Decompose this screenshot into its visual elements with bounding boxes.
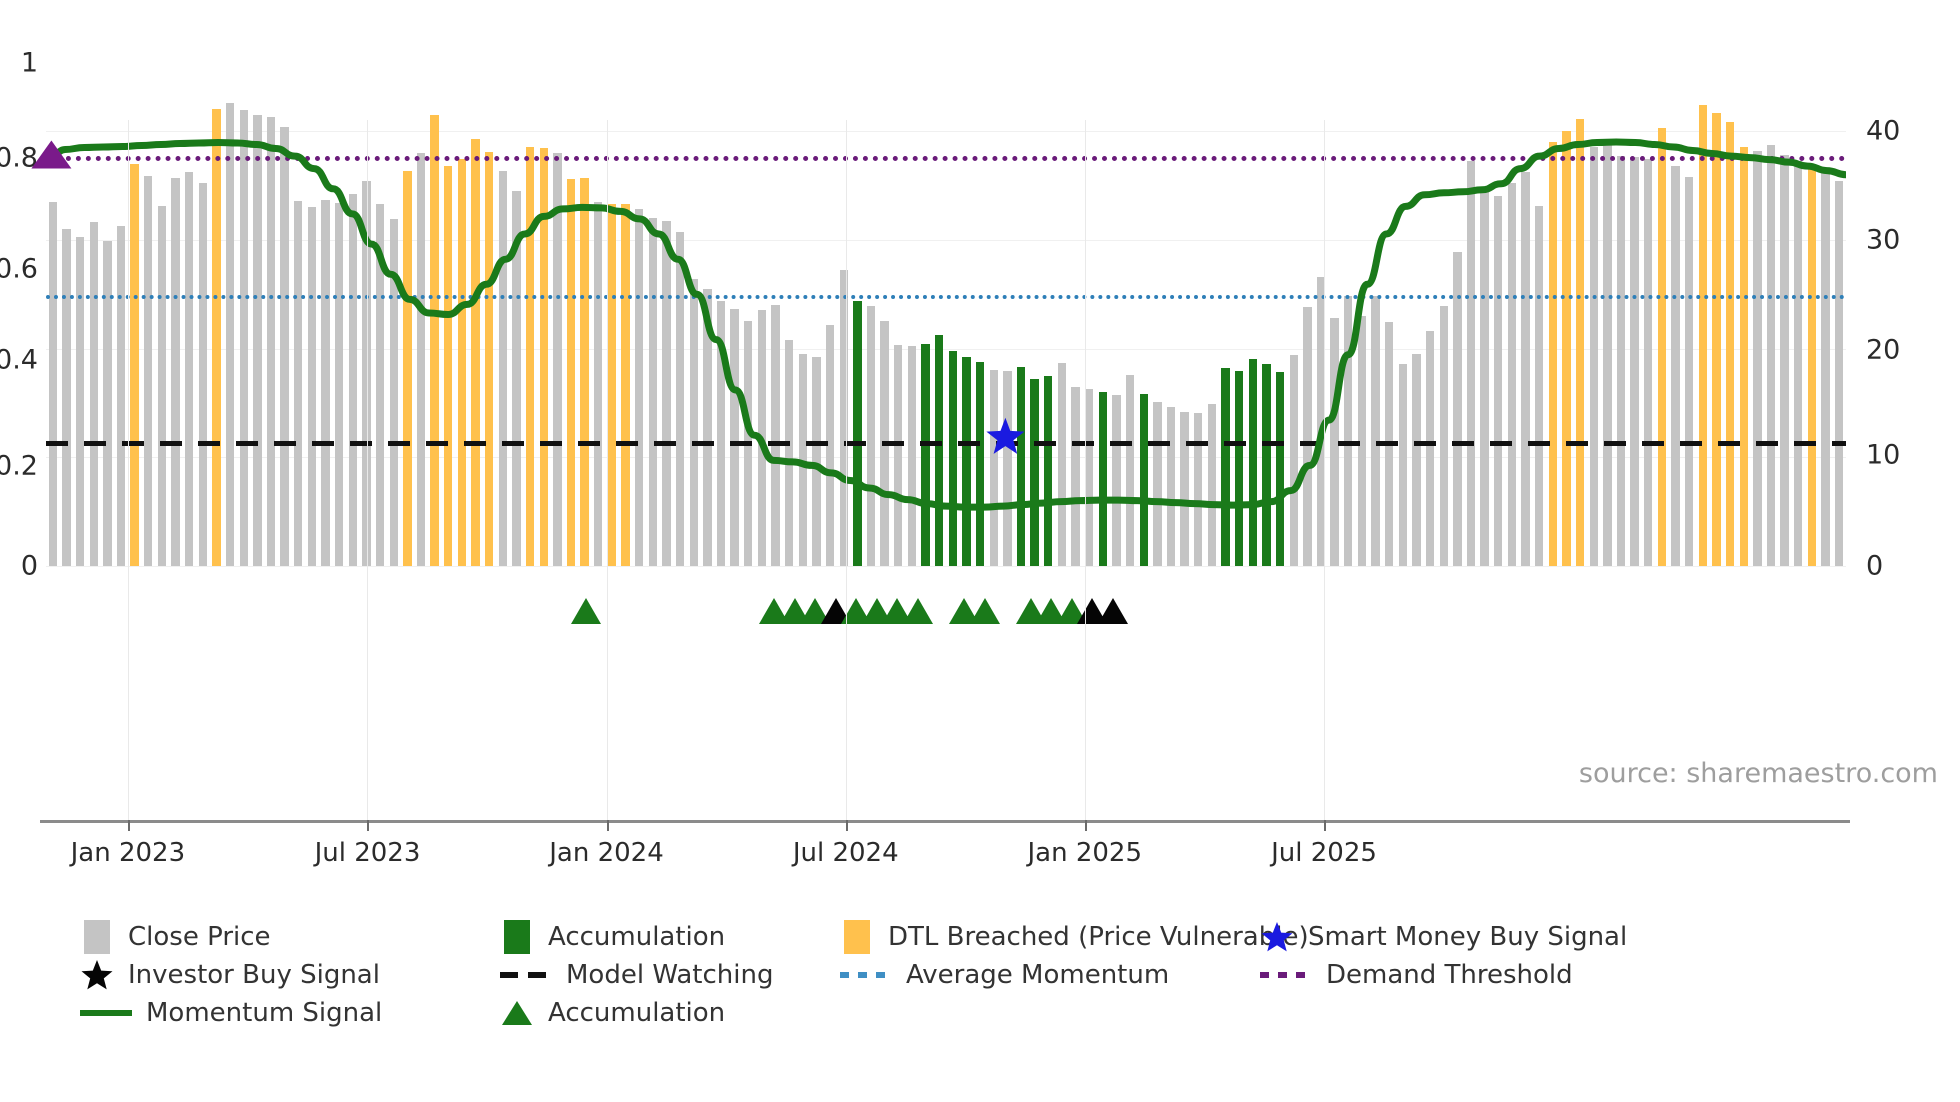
black-star-icon [80, 958, 114, 992]
legend-item-demand-threshold[interactable]: Demand Threshold [1260, 960, 1700, 990]
x-axis-tick [128, 820, 130, 831]
x-axis-tick [1085, 820, 1087, 831]
x-axis-tick-label: Jan 2024 [549, 838, 664, 868]
black-dashed-line-icon [500, 972, 552, 978]
legend-label: Investor Buy Signal [128, 960, 380, 990]
legend-label: Demand Threshold [1326, 960, 1573, 990]
gridline-vertical [1085, 120, 1086, 820]
chart-root: 1 0.8 0.6 0.4 0.2 0 40 30 20 10 0 Jan 20… [0, 0, 1960, 1102]
y-axis-right-tick: 0 [1866, 551, 1883, 582]
gray-square-icon [80, 920, 114, 954]
legend-label: Model Watching [566, 960, 773, 990]
legend-item-investor-buy-signal[interactable]: Investor Buy Signal [80, 958, 500, 992]
legend-label: Smart Money Buy Signal [1308, 922, 1627, 952]
y-axis-right-tick: 10 [1866, 440, 1900, 471]
plot-area [46, 60, 1846, 710]
x-axis-tick-label: Jul 2023 [315, 838, 421, 868]
green-triangle-icon [500, 996, 534, 1030]
y-axis-left-tick: 1 [21, 48, 38, 79]
accumulation-triangle[interactable] [903, 598, 933, 624]
y-axis-left-tick: 0 [21, 551, 38, 582]
x-axis-tick [607, 820, 609, 831]
y-axis-left-tick: 0.4 [0, 345, 38, 376]
point-markers-layer [46, 60, 1846, 710]
x-axis-tick-label: Jul 2024 [793, 838, 899, 868]
x-axis-tick-label: Jan 2025 [1028, 838, 1143, 868]
legend-label: DTL Breached (Price Vulnerable) [888, 922, 1309, 952]
gridline-vertical [1324, 120, 1325, 820]
accumulation-triangle[interactable] [970, 598, 1000, 624]
legend-label: Accumulation [548, 998, 725, 1028]
legend-label: Close Price [128, 922, 271, 952]
legend-item-average-momentum[interactable]: Average Momentum [840, 960, 1260, 990]
legend-item-accumulation-bar[interactable]: Accumulation [500, 920, 840, 954]
x-axis-line [40, 820, 1850, 823]
legend-label: Average Momentum [906, 960, 1169, 990]
legend-label: Momentum Signal [146, 998, 382, 1028]
x-axis-tick [846, 820, 848, 831]
y-axis-right-tick: 20 [1866, 335, 1900, 366]
y-axis-left-tick: 0.6 [0, 254, 38, 285]
y-axis-left-tick: 0.8 [0, 143, 38, 174]
investor-buy-signal-triangle[interactable] [1098, 598, 1128, 624]
x-axis-tick-label: Jan 2023 [71, 838, 186, 868]
green-square-icon [500, 920, 534, 954]
y-axis-left-tick: 0.2 [0, 451, 38, 482]
legend-item-model-watching[interactable]: Model Watching [500, 960, 840, 990]
gridline-vertical [367, 120, 368, 820]
purple-dotted-line-icon [1260, 972, 1312, 978]
smart-money-buy-signal-marker[interactable] [986, 418, 1024, 454]
legend-item-smart-money-buy-signal[interactable]: Smart Money Buy Signal [1260, 920, 1700, 954]
blue-star-icon [1260, 920, 1294, 954]
y-axis-right-tick: 40 [1866, 116, 1900, 147]
legend-item-accumulation-triangle[interactable]: Accumulation [500, 996, 840, 1030]
gridline-vertical [128, 120, 129, 820]
y-axis-right-tick: 30 [1866, 225, 1900, 256]
x-axis-tick [1324, 820, 1326, 831]
blue-dotted-line-icon [840, 972, 892, 978]
source-note: source: sharemaestro.com [1579, 758, 1938, 789]
x-axis-tick [367, 820, 369, 831]
gridline-vertical [607, 120, 608, 820]
gridline-vertical [846, 120, 847, 820]
legend-item-close-price[interactable]: Close Price [80, 920, 500, 954]
orange-square-icon [840, 920, 874, 954]
legend-item-dtl-breached[interactable]: DTL Breached (Price Vulnerable) [840, 920, 1260, 954]
accumulation-triangle[interactable] [571, 598, 601, 624]
x-axis-tick-label: Jul 2025 [1271, 838, 1377, 868]
green-solid-line-icon [80, 1010, 132, 1016]
legend-item-momentum-signal[interactable]: Momentum Signal [80, 998, 500, 1028]
legend-label: Accumulation [548, 922, 725, 952]
chart-legend: Close Price Accumulation DTL Breached (P… [80, 918, 1930, 1032]
